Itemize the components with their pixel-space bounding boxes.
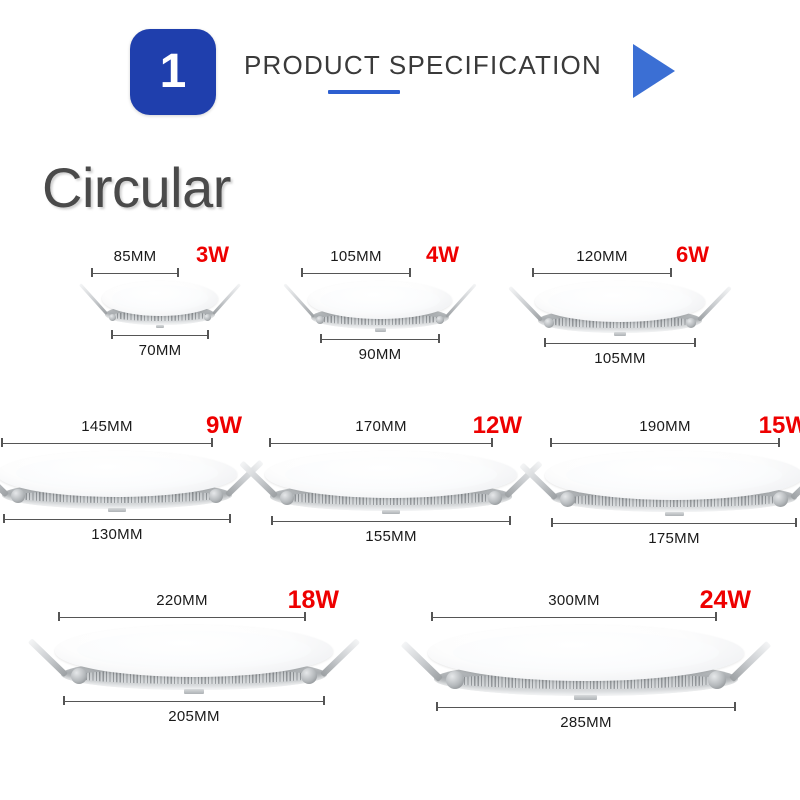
clip-pivot-knob bbox=[446, 671, 464, 689]
outer-dimension-bar bbox=[269, 438, 493, 447]
clip-pivot-knob bbox=[280, 491, 294, 505]
cutout-dimension-label: 205MM bbox=[168, 708, 220, 725]
dimension-end-cap bbox=[509, 516, 511, 525]
dimension-end-cap bbox=[694, 338, 696, 347]
led-panel-light-image bbox=[540, 451, 800, 515]
cutout-dimension-label: 285MM bbox=[560, 714, 612, 731]
clip-pivot-knob bbox=[708, 671, 726, 689]
cutout-dimension-bar bbox=[3, 514, 231, 523]
panel-body bbox=[531, 281, 709, 335]
panel-diffuser-inner bbox=[285, 457, 496, 492]
panel-diffuser-face bbox=[428, 625, 745, 681]
wattage-label: 18W bbox=[288, 588, 339, 613]
dimension-line bbox=[269, 443, 493, 445]
dimension-end-cap bbox=[91, 268, 93, 277]
product-spec-item: 15W190MM175MM bbox=[540, 418, 800, 547]
outer-dimension-label: 105MM bbox=[330, 248, 382, 265]
dimension-line bbox=[58, 617, 306, 619]
panel-centre-foot bbox=[184, 689, 204, 694]
dimension-line bbox=[111, 335, 209, 337]
dimension-end-cap bbox=[1, 438, 3, 447]
dimension-end-cap bbox=[269, 438, 271, 447]
wattage-label: 24W bbox=[700, 588, 751, 613]
outer-dimension-bar bbox=[532, 268, 672, 277]
led-panel-light-image bbox=[0, 451, 242, 511]
dimension-end-cap bbox=[111, 330, 113, 339]
dimension-end-cap bbox=[544, 338, 546, 347]
panel-diffuser-inner bbox=[77, 631, 311, 669]
dimension-line bbox=[544, 343, 696, 345]
led-panel-light-image bbox=[421, 625, 751, 699]
product-row-2: 9W145MM130MM12W170MM155MM15W190MM175MM bbox=[0, 418, 800, 547]
cutout-dimension-label: 130MM bbox=[91, 526, 143, 543]
dimension-line bbox=[271, 521, 511, 523]
dimension-end-cap bbox=[670, 268, 672, 277]
step-number-label: 1 bbox=[160, 48, 187, 96]
cutout-dimension-bar bbox=[320, 334, 440, 343]
wattage-label: 4W bbox=[426, 244, 459, 266]
header-title-group: PRODUCT SPECIFICATION bbox=[244, 50, 629, 94]
panel-centre-foot bbox=[375, 328, 386, 332]
dimension-end-cap bbox=[271, 516, 273, 525]
product-spec-item: 4W105MM90MM bbox=[301, 248, 459, 367]
dimension-end-cap bbox=[436, 702, 438, 711]
clip-pivot-knob bbox=[316, 316, 324, 324]
outer-dimension-label: 220MM bbox=[156, 592, 208, 609]
clip-pivot-knob bbox=[209, 489, 223, 503]
cutout-dimension-bar bbox=[551, 518, 797, 527]
wattage-label: 3W bbox=[196, 244, 229, 266]
play-triangle-right-icon bbox=[633, 44, 675, 98]
panel-body bbox=[49, 625, 339, 693]
panel-body bbox=[260, 451, 522, 513]
panel-diffuser-face bbox=[545, 451, 800, 500]
dimension-line bbox=[3, 519, 231, 521]
dimension-line bbox=[550, 443, 780, 445]
clip-pivot-knob bbox=[436, 316, 444, 324]
panel-body bbox=[540, 451, 800, 515]
step-number-badge: 1 bbox=[130, 29, 216, 115]
outer-dimension-bar bbox=[431, 612, 717, 621]
led-panel-light-image bbox=[305, 281, 455, 331]
product-row-3: 18W220MM205MM24W300MM285MM bbox=[0, 592, 800, 731]
dimension-line bbox=[63, 701, 325, 703]
cutout-dimension-bar bbox=[63, 696, 325, 705]
outer-dimension-bar bbox=[550, 438, 780, 447]
dimension-end-cap bbox=[532, 268, 534, 277]
dimension-end-cap bbox=[211, 438, 213, 447]
panel-centre-foot bbox=[614, 332, 626, 336]
cutout-dimension-label: 105MM bbox=[594, 350, 646, 367]
dimension-line bbox=[436, 707, 736, 709]
wattage-label: 9W bbox=[206, 414, 242, 438]
led-panel-light-image bbox=[49, 625, 339, 693]
dimension-end-cap bbox=[550, 438, 552, 447]
dimension-end-cap bbox=[207, 330, 209, 339]
panel-diffuser-face bbox=[0, 451, 237, 497]
wattage-label: 6W bbox=[676, 244, 709, 266]
clip-pivot-knob bbox=[773, 492, 788, 507]
dimension-end-cap bbox=[551, 518, 553, 527]
dimension-end-cap bbox=[63, 696, 65, 705]
panel-diffuser-inner bbox=[112, 285, 209, 311]
clip-pivot-knob bbox=[71, 668, 87, 684]
clip-pivot-knob bbox=[560, 492, 575, 507]
panel-body bbox=[305, 281, 455, 331]
panel-centre-foot bbox=[665, 512, 684, 516]
panel-diffuser-inner bbox=[320, 286, 441, 314]
wattage-label: 15W bbox=[759, 414, 800, 438]
panel-centre-foot bbox=[156, 325, 164, 328]
dimension-line bbox=[91, 273, 179, 275]
dimension-end-cap bbox=[229, 514, 231, 523]
page-title: PRODUCT SPECIFICATION bbox=[244, 50, 629, 81]
panel-body bbox=[0, 451, 242, 511]
cutout-dimension-bar bbox=[436, 702, 736, 711]
clip-pivot-knob bbox=[686, 318, 696, 328]
dimension-end-cap bbox=[778, 438, 780, 447]
dimension-end-cap bbox=[323, 696, 325, 705]
cutout-dimension-label: 70MM bbox=[139, 342, 182, 359]
panel-diffuser-inner bbox=[566, 457, 782, 493]
panel-diffuser-face bbox=[102, 281, 217, 316]
cutout-dimension-label: 155MM bbox=[365, 528, 417, 545]
led-panel-light-image bbox=[260, 451, 522, 513]
panel-body bbox=[421, 625, 751, 699]
cutout-dimension-bar bbox=[111, 330, 209, 339]
panel-diffuser-inner bbox=[453, 632, 719, 674]
panel-diffuser-face bbox=[265, 451, 517, 498]
cutout-dimension-label: 90MM bbox=[359, 346, 402, 363]
dimension-end-cap bbox=[795, 518, 797, 527]
cutout-dimension-bar bbox=[544, 338, 696, 347]
dimension-end-cap bbox=[58, 612, 60, 621]
panel-centre-foot bbox=[382, 510, 400, 514]
product-row-1: 3W85MM70MM4W105MM90MM6W120MM105MM bbox=[0, 248, 800, 367]
dimension-end-cap bbox=[438, 334, 440, 343]
dimension-end-cap bbox=[409, 268, 411, 277]
product-spec-item: 18W220MM205MM bbox=[49, 592, 339, 731]
product-spec-item: 24W300MM285MM bbox=[421, 592, 751, 731]
wattage-label: 12W bbox=[473, 414, 522, 438]
dimension-end-cap bbox=[320, 334, 322, 343]
dimension-line bbox=[551, 523, 797, 525]
dimension-end-cap bbox=[177, 268, 179, 277]
outer-dimension-label: 145MM bbox=[81, 418, 133, 435]
dimension-end-cap bbox=[301, 268, 303, 277]
clip-pivot-knob bbox=[109, 314, 116, 321]
dimension-end-cap bbox=[715, 612, 717, 621]
outer-dimension-label: 300MM bbox=[548, 592, 600, 609]
product-spec-item: 12W170MM155MM bbox=[260, 418, 522, 547]
outer-dimension-label: 170MM bbox=[355, 418, 407, 435]
panel-diffuser-inner bbox=[548, 286, 692, 316]
outer-dimension-bar bbox=[301, 268, 411, 277]
panel-centre-foot bbox=[574, 695, 597, 700]
panel-diffuser-face bbox=[55, 625, 333, 677]
dimension-line bbox=[431, 617, 717, 619]
dimension-end-cap bbox=[304, 612, 306, 621]
panel-diffuser-face bbox=[308, 281, 452, 319]
shape-category-title: Circular bbox=[42, 155, 231, 220]
clip-pivot-knob bbox=[204, 314, 211, 321]
product-spec-item: 3W85MM70MM bbox=[91, 248, 229, 367]
outer-dimension-label: 85MM bbox=[114, 248, 157, 265]
dimension-line bbox=[301, 273, 411, 275]
clip-pivot-knob bbox=[301, 668, 317, 684]
dimension-end-cap bbox=[734, 702, 736, 711]
product-spec-item: 6W120MM105MM bbox=[531, 248, 709, 367]
product-spec-item: 9W145MM130MM bbox=[0, 418, 242, 547]
panel-centre-foot bbox=[108, 508, 126, 512]
dimension-end-cap bbox=[3, 514, 5, 523]
outer-dimension-bar bbox=[1, 438, 213, 447]
title-underline-rule bbox=[328, 90, 400, 94]
panel-diffuser-inner bbox=[16, 456, 218, 490]
dimension-line bbox=[532, 273, 672, 275]
dimension-line bbox=[320, 339, 440, 341]
clip-pivot-knob bbox=[11, 489, 25, 503]
outer-dimension-bar bbox=[58, 612, 306, 621]
cutout-dimension-bar bbox=[271, 516, 511, 525]
led-panel-light-image bbox=[531, 281, 709, 335]
dimension-end-cap bbox=[491, 438, 493, 447]
clip-pivot-knob bbox=[488, 491, 502, 505]
dimension-end-cap bbox=[431, 612, 433, 621]
panel-diffuser-face bbox=[535, 281, 706, 322]
clip-pivot-knob bbox=[544, 318, 554, 328]
panel-body bbox=[100, 281, 220, 327]
cutout-dimension-label: 175MM bbox=[648, 530, 700, 547]
page-header: 1 PRODUCT SPECIFICATION bbox=[130, 22, 675, 122]
led-panel-light-image bbox=[100, 281, 220, 327]
outer-dimension-label: 120MM bbox=[576, 248, 628, 265]
outer-dimension-label: 190MM bbox=[639, 418, 691, 435]
dimension-line bbox=[1, 443, 213, 445]
outer-dimension-bar bbox=[91, 268, 179, 277]
